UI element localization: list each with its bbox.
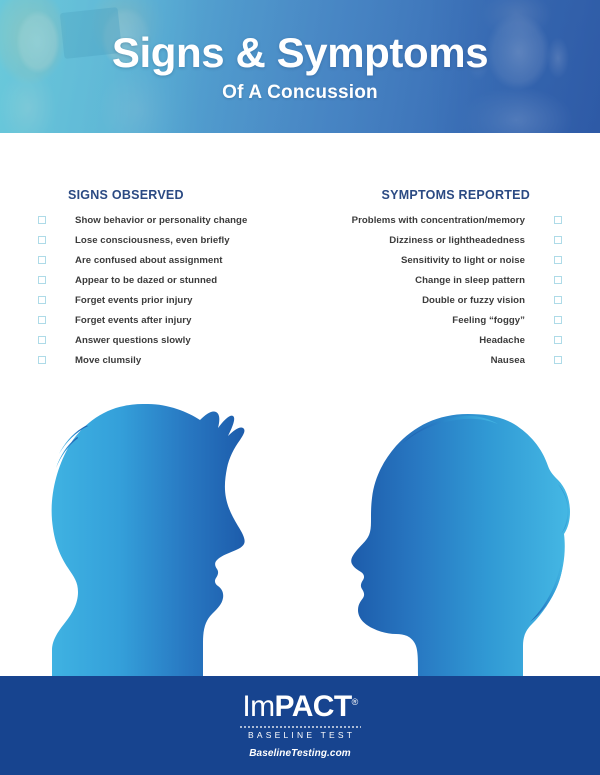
- impact-logo-im: Im: [242, 690, 274, 723]
- list-item[interactable]: Appear to be dazed or stunned: [30, 270, 298, 290]
- checkbox-icon[interactable]: [38, 216, 46, 224]
- checkbox-icon[interactable]: [38, 236, 46, 244]
- logo-divider-dots: [239, 726, 361, 728]
- list-item[interactable]: Lose consciousness, even briefly: [30, 230, 298, 250]
- list-item-label: Sensitivity to light or noise: [401, 255, 525, 266]
- list-item-label: Answer questions slowly: [75, 335, 191, 346]
- list-item[interactable]: Double or fuzzy vision: [310, 290, 570, 310]
- page-footer: ImPACT® BASELINE TEST BaselineTesting.co…: [0, 676, 600, 775]
- list-item[interactable]: Are confused about assignment: [30, 250, 298, 270]
- list-item-label: Forget events after injury: [75, 315, 191, 326]
- list-item-label: Show behavior or personality change: [75, 215, 247, 226]
- impact-logo-tagline: BASELINE TEST: [239, 731, 361, 740]
- list-item-label: Feeling “foggy”: [452, 315, 525, 326]
- list-item-label: Change in sleep pattern: [415, 275, 525, 286]
- checkbox-icon[interactable]: [38, 356, 46, 364]
- list-item-label: Problems with concentration/memory: [352, 215, 525, 226]
- list-item[interactable]: Show behavior or personality change: [30, 210, 298, 230]
- list-item-label: Dizziness or lightheadedness: [389, 235, 525, 246]
- checkbox-icon[interactable]: [554, 256, 562, 264]
- checkbox-icon[interactable]: [554, 216, 562, 224]
- list-item[interactable]: Sensitivity to light or noise: [310, 250, 570, 270]
- male-head-silhouette-icon: [28, 392, 298, 676]
- list-item[interactable]: Answer questions slowly: [30, 330, 298, 350]
- checkbox-icon[interactable]: [38, 336, 46, 344]
- list-item[interactable]: Problems with concentration/memory: [310, 210, 570, 230]
- checkbox-icon[interactable]: [554, 296, 562, 304]
- checkbox-icon[interactable]: [38, 276, 46, 284]
- registered-trademark-icon: ®: [352, 697, 358, 707]
- list-item-label: Lose consciousness, even briefly: [75, 235, 230, 246]
- symptoms-reported-column: SYMPTOMS REPORTED Problems with concentr…: [310, 188, 570, 370]
- list-item[interactable]: Headache: [310, 330, 570, 350]
- impact-logo-pact: PACT: [275, 690, 352, 723]
- list-item-label: Move clumsily: [75, 355, 141, 366]
- impact-logo: ImPACT® BASELINE TEST: [239, 692, 361, 740]
- list-item-label: Appear to be dazed or stunned: [75, 275, 217, 286]
- list-item[interactable]: Forget events prior injury: [30, 290, 298, 310]
- footer-url: BaselineTesting.com: [249, 748, 351, 759]
- signs-observed-column: SIGNS OBSERVED Show behavior or personal…: [30, 188, 298, 370]
- checkbox-icon[interactable]: [554, 276, 562, 284]
- checkbox-icon[interactable]: [554, 236, 562, 244]
- list-item-label: Are confused about assignment: [75, 255, 223, 266]
- symptoms-reported-heading: SYMPTOMS REPORTED: [310, 188, 570, 202]
- list-item[interactable]: Dizziness or lightheadedness: [310, 230, 570, 250]
- checkbox-icon[interactable]: [38, 256, 46, 264]
- concussion-infographic-page: Signs & Symptoms Of A Concussion SIGNS O…: [0, 0, 600, 775]
- page-subtitle: Of A Concussion: [222, 83, 378, 102]
- signs-observed-heading: SIGNS OBSERVED: [30, 188, 298, 202]
- page-header: Signs & Symptoms Of A Concussion: [0, 0, 600, 133]
- checkbox-icon[interactable]: [38, 296, 46, 304]
- header-text-block: Signs & Symptoms Of A Concussion: [0, 0, 600, 133]
- page-title: Signs & Symptoms: [112, 32, 488, 74]
- list-item[interactable]: Move clumsily: [30, 350, 298, 370]
- list-item-label: Headache: [479, 335, 525, 346]
- list-item-label: Double or fuzzy vision: [422, 295, 525, 306]
- list-item-label: Forget events prior injury: [75, 295, 193, 306]
- checkbox-icon[interactable]: [554, 336, 562, 344]
- list-item[interactable]: Nausea: [310, 350, 570, 370]
- list-item[interactable]: Change in sleep pattern: [310, 270, 570, 290]
- checkbox-icon[interactable]: [554, 316, 562, 324]
- checkbox-icon[interactable]: [38, 316, 46, 324]
- list-item-label: Nausea: [491, 355, 525, 366]
- list-item[interactable]: Feeling “foggy”: [310, 310, 570, 330]
- impact-logo-wordmark: ImPACT®: [239, 692, 361, 722]
- list-item[interactable]: Forget events after injury: [30, 310, 298, 330]
- checkbox-icon[interactable]: [554, 356, 562, 364]
- female-head-silhouette-icon: [318, 392, 580, 676]
- silhouette-illustration: [0, 392, 600, 676]
